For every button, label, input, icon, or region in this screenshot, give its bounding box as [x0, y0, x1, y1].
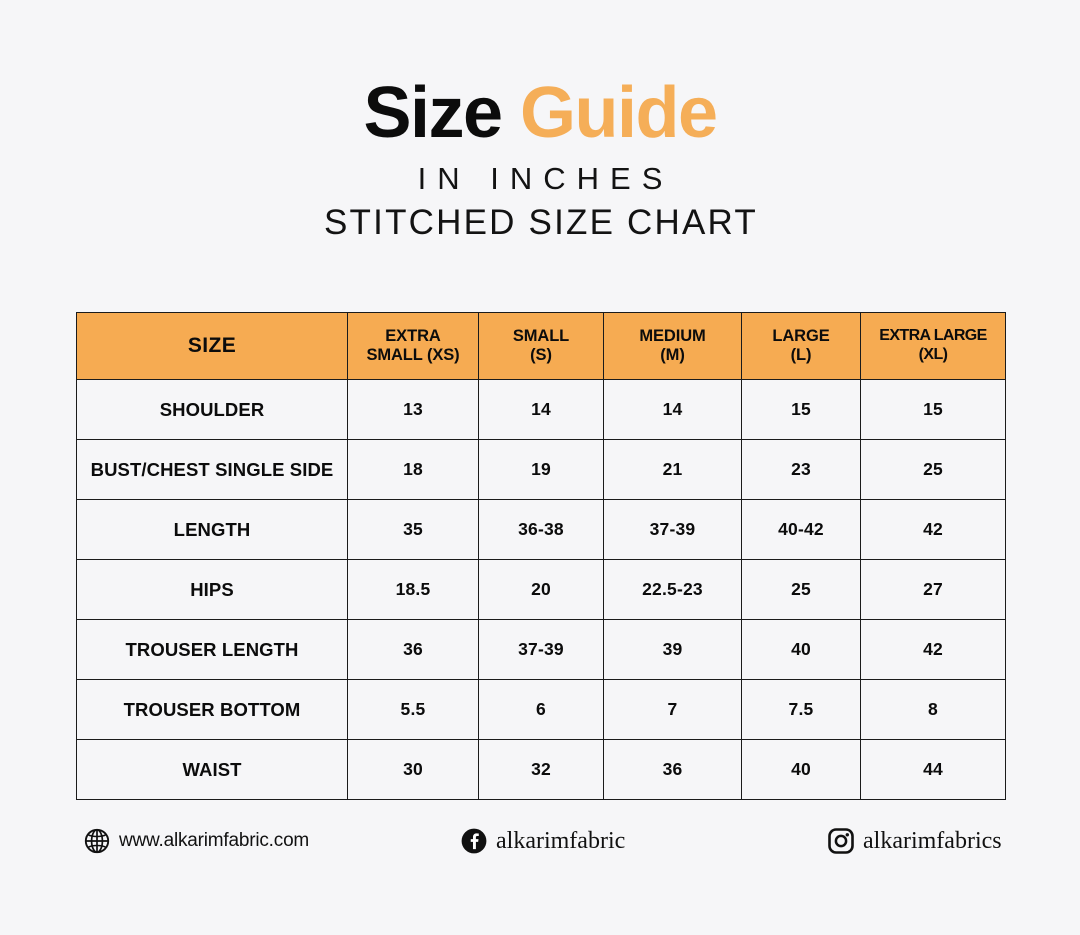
cell-bust-xl: 25 — [861, 440, 1006, 500]
footer-facebook-handle: alkarimfabric — [496, 828, 625, 855]
column-header-extra-small-line1: EXTRA — [385, 327, 440, 345]
subtitle-stitched-size-chart: STITCHED SIZE CHART — [0, 203, 1080, 243]
cell-trouser-bottom-m: 7 — [604, 680, 742, 740]
column-header-small: SMALL(S) — [479, 313, 604, 380]
cell-hips-s: 20 — [479, 560, 604, 620]
column-header-small-line1: SMALL — [513, 327, 569, 345]
column-header-large: LARGE(L) — [742, 313, 861, 380]
table-row: HIPS 18.5 20 22.5-23 25 27 — [77, 560, 1006, 620]
cell-trouser-bottom-l: 7.5 — [742, 680, 861, 740]
page-title: Size Guide — [0, 78, 1080, 149]
cell-waist-xs: 30 — [348, 740, 479, 800]
cell-bust-l: 23 — [742, 440, 861, 500]
footer-website[interactable]: www.alkarimfabric.com — [82, 821, 309, 861]
row-label-shoulder: SHOULDER — [77, 380, 348, 440]
cell-length-s: 36-38 — [479, 500, 604, 560]
table-row: LENGTH 35 36-38 37-39 40-42 42 — [77, 500, 1006, 560]
row-label-trouser-bottom: TROUSER BOTTOM — [77, 680, 348, 740]
instagram-icon — [826, 826, 856, 856]
cell-trouser-bottom-xl: 8 — [861, 680, 1006, 740]
footer-website-text: www.alkarimfabric.com — [119, 830, 309, 852]
title-block: Size Guide IN INCHES STITCHED SIZE CHART — [0, 78, 1080, 243]
column-header-medium-line1: MEDIUM — [639, 327, 705, 345]
cell-bust-s: 19 — [479, 440, 604, 500]
footer: www.alkarimfabric.com alkarimfabric alka… — [76, 818, 1005, 868]
table-row: BUST/CHEST SINGLE SIDE 18 19 21 23 25 — [77, 440, 1006, 500]
size-table-container: SIZE EXTRASMALL (XS) SMALL(S) MEDIUM(M) … — [76, 312, 1005, 800]
title-word-guide: Guide — [520, 73, 717, 153]
title-space — [502, 73, 521, 153]
subtitle-in-inches: IN INCHES — [0, 161, 1080, 197]
cell-waist-s: 32 — [479, 740, 604, 800]
cell-trouser-length-m: 39 — [604, 620, 742, 680]
table-row: TROUSER BOTTOM 5.5 6 7 7.5 8 — [77, 680, 1006, 740]
cell-length-xs: 35 — [348, 500, 479, 560]
title-word-size: Size — [363, 73, 501, 153]
table-header-row: SIZE EXTRASMALL (XS) SMALL(S) MEDIUM(M) … — [77, 313, 1006, 380]
row-label-hips: HIPS — [77, 560, 348, 620]
size-chart-table: SIZE EXTRASMALL (XS) SMALL(S) MEDIUM(M) … — [76, 312, 1006, 800]
globe-icon — [82, 826, 112, 856]
cell-trouser-bottom-xs: 5.5 — [348, 680, 479, 740]
cell-hips-xl: 27 — [861, 560, 1006, 620]
cell-waist-xl: 44 — [861, 740, 1006, 800]
cell-trouser-length-l: 40 — [742, 620, 861, 680]
table-row: SHOULDER 13 14 14 15 15 — [77, 380, 1006, 440]
row-label-bust-chest-single-side: BUST/CHEST SINGLE SIDE — [77, 440, 348, 500]
column-header-large-line2: (L) — [744, 346, 858, 365]
cell-hips-l: 25 — [742, 560, 861, 620]
cell-bust-m: 21 — [604, 440, 742, 500]
cell-shoulder-l: 15 — [742, 380, 861, 440]
cell-length-l: 40-42 — [742, 500, 861, 560]
cell-shoulder-xs: 13 — [348, 380, 479, 440]
cell-trouser-length-xl: 42 — [861, 620, 1006, 680]
column-header-medium-line2: (M) — [606, 346, 739, 365]
cell-shoulder-xl: 15 — [861, 380, 1006, 440]
footer-instagram[interactable]: alkarimfabrics — [826, 821, 1002, 861]
cell-shoulder-m: 14 — [604, 380, 742, 440]
cell-length-m: 37-39 — [604, 500, 742, 560]
table-row: TROUSER LENGTH 36 37-39 39 40 42 — [77, 620, 1006, 680]
facebook-icon — [459, 826, 489, 856]
cell-length-xl: 42 — [861, 500, 1006, 560]
table-body: SHOULDER 13 14 14 15 15 BUST/CHEST SINGL… — [77, 380, 1006, 800]
cell-waist-l: 40 — [742, 740, 861, 800]
footer-facebook[interactable]: alkarimfabric — [459, 821, 625, 861]
size-guide-page: Size Guide IN INCHES STITCHED SIZE CHART… — [0, 0, 1080, 935]
row-label-trouser-length: TROUSER LENGTH — [77, 620, 348, 680]
cell-trouser-length-s: 37-39 — [479, 620, 604, 680]
cell-trouser-bottom-s: 6 — [479, 680, 604, 740]
table-row: WAIST 30 32 36 40 44 — [77, 740, 1006, 800]
column-header-extra-large-line2: (XL) — [863, 346, 1003, 365]
column-header-extra-large: EXTRA LARGE(XL) — [861, 313, 1006, 380]
column-header-small-line2: (S) — [481, 346, 601, 365]
column-header-extra-small: EXTRASMALL (XS) — [348, 313, 479, 380]
cell-trouser-length-xs: 36 — [348, 620, 479, 680]
row-label-waist: WAIST — [77, 740, 348, 800]
table-header: SIZE EXTRASMALL (XS) SMALL(S) MEDIUM(M) … — [77, 313, 1006, 380]
column-header-extra-small-line2: SMALL (XS) — [350, 346, 476, 365]
row-label-length: LENGTH — [77, 500, 348, 560]
cell-hips-m: 22.5-23 — [604, 560, 742, 620]
column-header-size: SIZE — [77, 313, 348, 380]
cell-hips-xs: 18.5 — [348, 560, 479, 620]
column-header-extra-large-line1: EXTRA LARGE — [879, 327, 986, 344]
cell-waist-m: 36 — [604, 740, 742, 800]
cell-bust-xs: 18 — [348, 440, 479, 500]
column-header-large-line1: LARGE — [772, 327, 829, 345]
cell-shoulder-s: 14 — [479, 380, 604, 440]
column-header-medium: MEDIUM(M) — [604, 313, 742, 380]
footer-instagram-handle: alkarimfabrics — [863, 828, 1002, 855]
